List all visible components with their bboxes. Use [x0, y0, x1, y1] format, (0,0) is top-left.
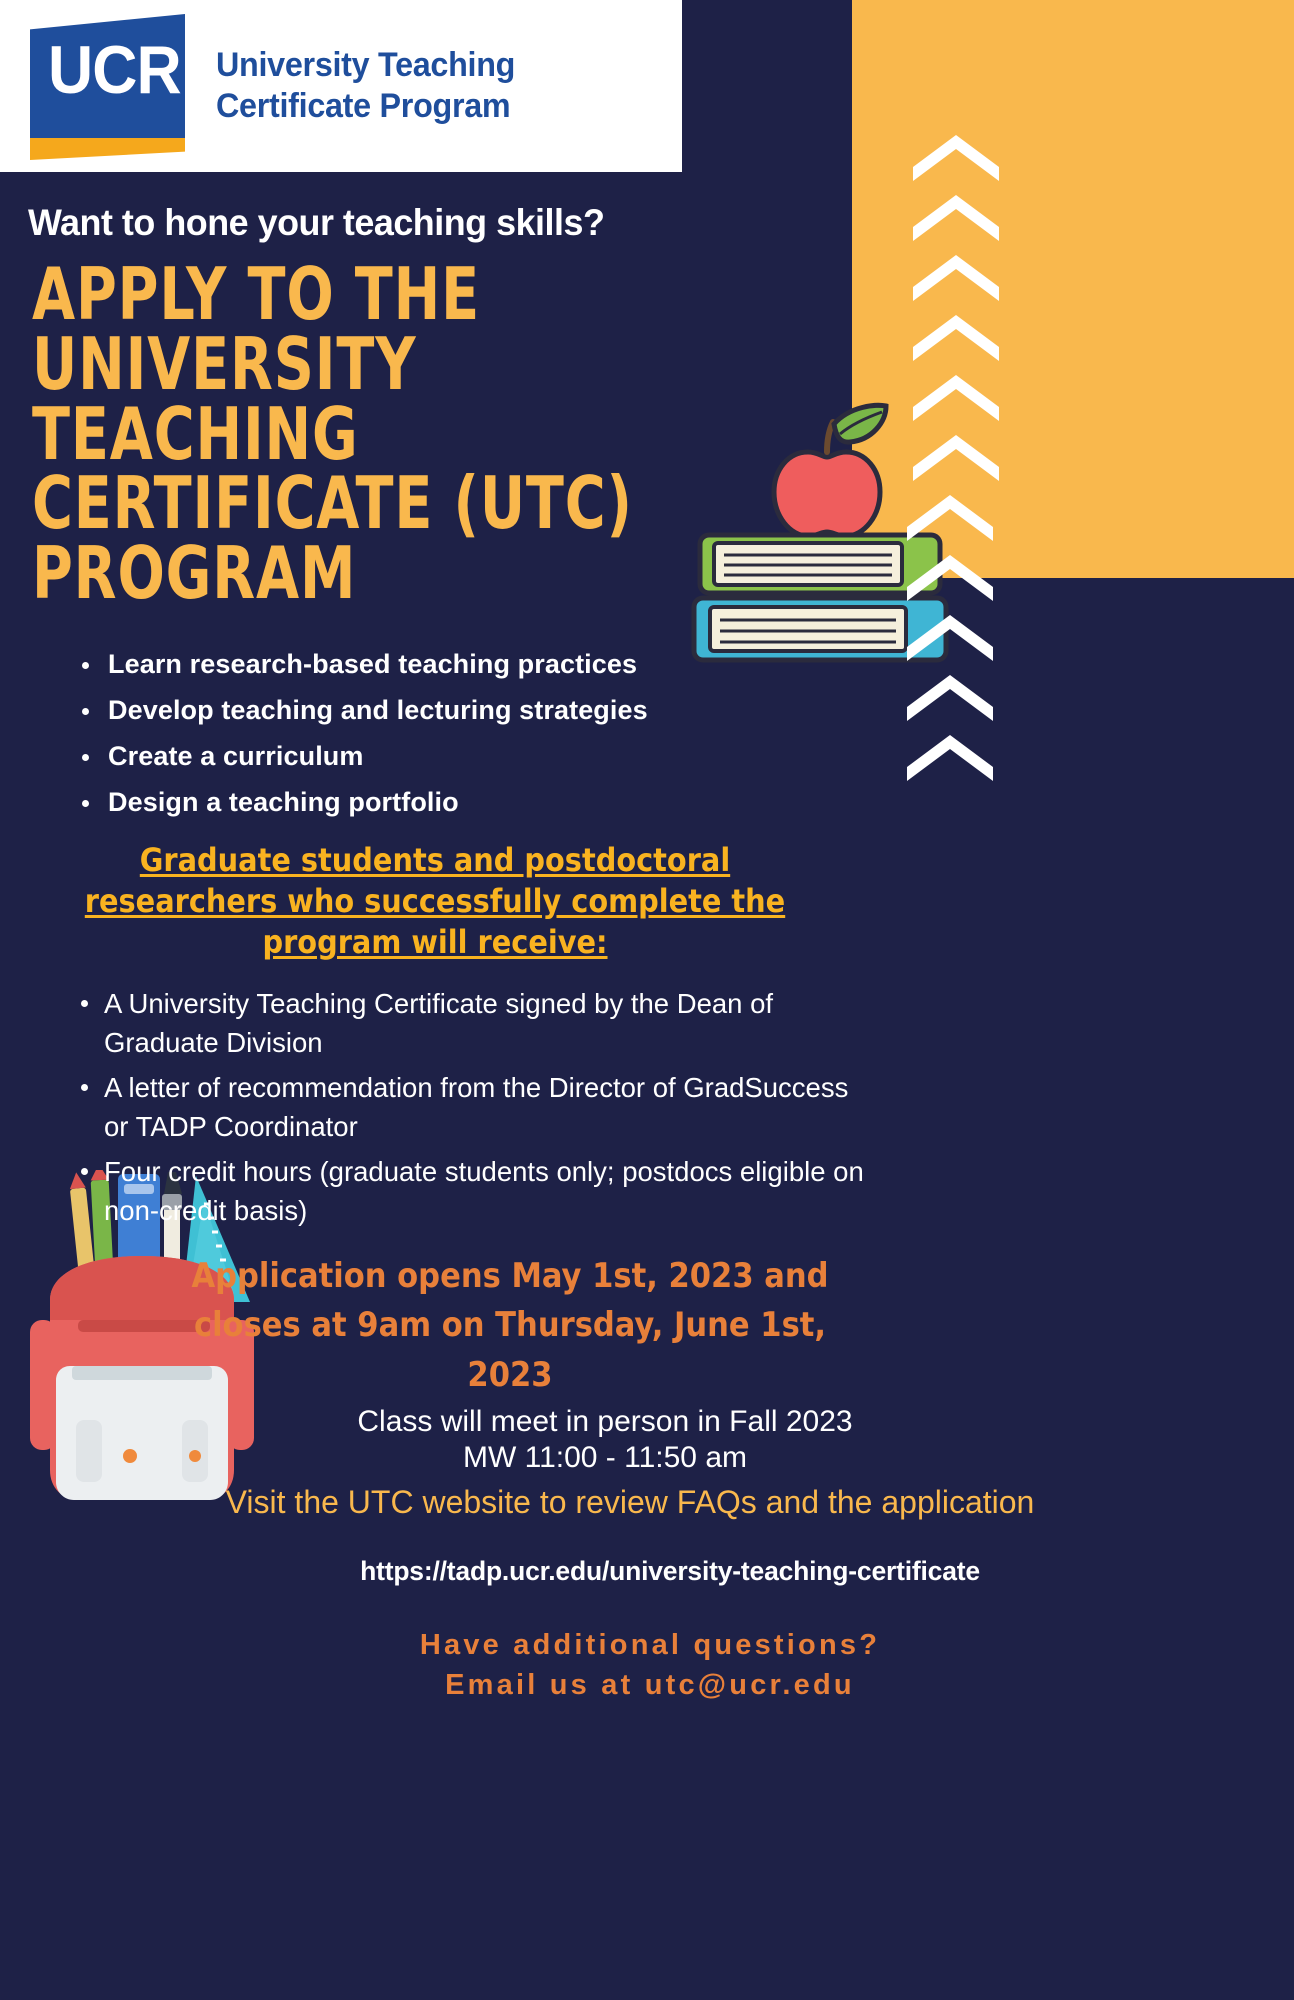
- program-title-line: Certificate Program: [216, 86, 515, 127]
- ucr-logo: UCR: [30, 14, 190, 160]
- website-url-link[interactable]: https://tadp.ucr.edu/university-teaching…: [160, 1556, 1180, 1587]
- list-item: A letter of recommendation from the Dire…: [74, 1069, 864, 1146]
- contact-email[interactable]: Email us at utc@ucr.edu: [200, 1665, 1100, 1705]
- program-title: University TeachingCertificate Program: [216, 45, 515, 128]
- visit-website-text: Visit the UTC website to review FAQs and…: [180, 1483, 1080, 1522]
- benefits-list: Learn research-based teaching practicesD…: [76, 651, 776, 816]
- poster-canvas: UCR University TeachingCertificate Progr…: [0, 0, 1294, 2000]
- contact-question: Have additional questions?: [200, 1625, 1100, 1665]
- list-item: Four credit hours (graduate students onl…: [74, 1153, 864, 1230]
- contact-block: Have additional questions? Email us at u…: [200, 1625, 1100, 1705]
- logo-wordmark: UCR: [48, 36, 181, 104]
- list-item: Develop teaching and lecturing strategie…: [76, 697, 776, 724]
- header-band: UCR University TeachingCertificate Progr…: [0, 0, 682, 172]
- list-item: Create a curriculum: [76, 743, 776, 770]
- logo-gold-shape: [30, 138, 185, 160]
- list-item: A University Teaching Certificate signed…: [74, 985, 864, 1062]
- class-schedule-line1: Class will meet in person in Fall 2023: [180, 1404, 1030, 1441]
- list-item: Design a teaching portfolio: [76, 789, 776, 816]
- application-dates: Application opens May 1st, 2023 and clos…: [190, 1252, 830, 1400]
- outcomes-heading: Graduate students and postdoctoral resea…: [40, 840, 830, 963]
- program-title-line: University Teaching: [216, 45, 515, 86]
- list-item: Learn research-based teaching practices: [76, 651, 776, 678]
- page-title: Apply to the University Teaching Certifi…: [32, 260, 694, 609]
- class-schedule: Class will meet in person in Fall 2023 M…: [180, 1404, 1030, 1477]
- poster-content: Want to hone your teaching skills? Apply…: [0, 172, 1294, 1705]
- class-schedule-line2: MW 11:00 - 11:50 am: [180, 1440, 1030, 1477]
- kicker-text: Want to hone your teaching skills?: [28, 202, 1256, 244]
- outcomes-list: A University Teaching Certificate signed…: [74, 985, 864, 1230]
